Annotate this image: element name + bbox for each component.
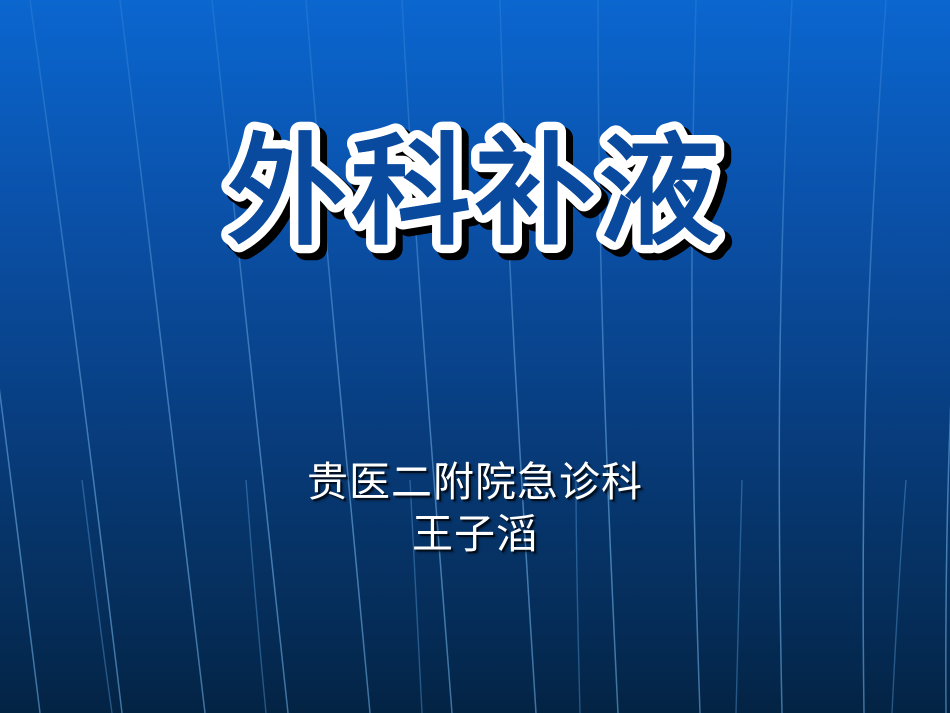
subtitle-line-author: 王子滔 [0, 508, 950, 560]
grid-meridian-lines [0, 0, 950, 713]
subtitle-line-department: 贵医二附院急诊科 [0, 456, 950, 508]
title-artistic-text: 外科补液 外科补液 外科补液 [95, 108, 855, 283]
title-fill-layer: 外科补液 [227, 123, 723, 262]
slide-subtitle: 贵医二附院急诊科 王子滔 [0, 456, 950, 561]
slide-title: 外科补液 外科补液 外科补液 [0, 108, 950, 283]
globe-grid-background [0, 0, 950, 713]
presentation-slide: 外科补液 外科补液 外科补液 贵医二附院急诊科 王子滔 [0, 0, 950, 713]
